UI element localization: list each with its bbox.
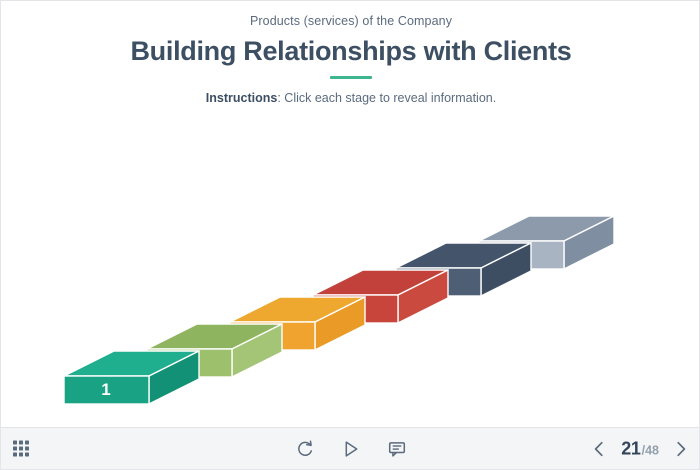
instructions-label: Instructions: [206, 91, 278, 105]
staircase-graphic: 6 5 4 3: [1, 111, 700, 426]
chevron-right-icon[interactable]: [673, 439, 689, 458]
course-eyebrow: Products (services) of the Company: [1, 13, 700, 29]
instructions-body: : Click each stage to reveal information…: [277, 91, 496, 105]
slide-header: Products (services) of the Company Build…: [1, 1, 700, 106]
play-icon[interactable]: [342, 439, 361, 458]
staircase-svg: 6 5 4 3: [1, 111, 700, 426]
page-title: Building Relationships with Clients: [1, 35, 700, 67]
player-toolbar: 21 /48: [1, 427, 700, 469]
step-1-label: 1: [101, 380, 110, 399]
chevron-left-icon[interactable]: [591, 439, 607, 458]
slide-canvas: Products (services) of the Company Build…: [0, 0, 700, 470]
current-page: 21: [621, 438, 640, 459]
instructions-text: Instructions: Click each stage to reveal…: [1, 90, 700, 106]
toolbar-playback-group: [296, 439, 407, 458]
toolbar-left-group: [13, 440, 30, 457]
total-pages: /48: [642, 443, 659, 457]
notes-icon[interactable]: [388, 439, 407, 458]
toolbar-nav-group: 21 /48: [591, 438, 689, 459]
replay-icon[interactable]: [296, 439, 315, 458]
page-indicator: 21 /48: [621, 438, 659, 459]
grid-menu-icon[interactable]: [13, 440, 30, 457]
title-divider: [330, 76, 372, 79]
stair-step-1[interactable]: 1: [64, 351, 199, 404]
